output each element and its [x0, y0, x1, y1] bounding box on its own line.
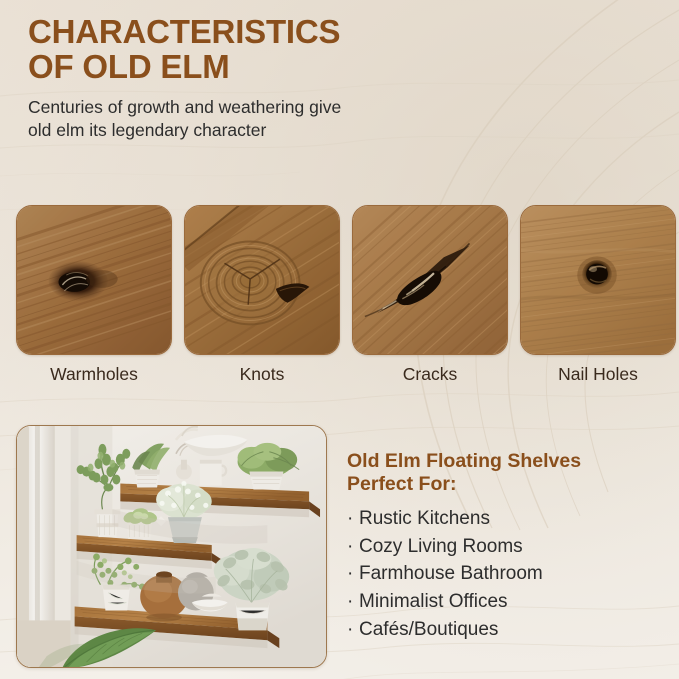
bullet-icon: · — [347, 505, 359, 533]
floating-shelves-photo — [16, 425, 327, 668]
swatch-label-warmholes: Warmholes — [50, 364, 138, 385]
uses-list-item-label: Cozy Living Rooms — [359, 536, 523, 557]
uses-block: Old Elm Floating Shelves Perfect For: ·R… — [347, 450, 667, 644]
uses-list-item: ·Farmhouse Bathroom — [347, 560, 667, 588]
uses-list-item: ·Cafés/Boutiques — [347, 616, 667, 644]
header-block: CHARACTERISTICS OF OLD ELM Centuries of … — [28, 14, 448, 142]
page-title-line-2: OF OLD ELM — [28, 49, 448, 84]
uses-list: ·Rustic Kitchens ·Cozy Living Rooms ·Far… — [347, 505, 667, 644]
uses-heading-line-2: Perfect For: — [347, 473, 667, 496]
swatch-item-knots: Knots — [184, 205, 340, 390]
swatch-item-nail-holes: Nail Holes — [520, 205, 676, 390]
uses-list-item-label: Cafés/Boutiques — [359, 619, 498, 640]
wood-swatch-crack-icon — [352, 205, 508, 355]
characteristics-swatch-row: Warmholes — [16, 205, 664, 390]
uses-list-item: ·Cozy Living Rooms — [347, 533, 667, 561]
uses-list-item-label: Farmhouse Bathroom — [359, 563, 543, 584]
uses-list-item-label: Minimalist Offices — [359, 591, 508, 612]
uses-list-item: ·Rustic Kitchens — [347, 505, 667, 533]
wood-swatch-wormhole-icon — [16, 205, 172, 355]
bullet-icon: · — [347, 560, 359, 588]
page-subtitle-line-1: Centuries of growth and weathering give — [28, 97, 341, 117]
swatch-label-nail-holes: Nail Holes — [558, 364, 638, 385]
uses-list-item-label: Rustic Kitchens — [359, 508, 490, 529]
bullet-icon: · — [347, 533, 359, 561]
swatch-label-cracks: Cracks — [403, 364, 457, 385]
page-subtitle-line-2: old elm its legendary character — [28, 119, 448, 142]
page-subtitle: Centuries of growth and weathering give … — [28, 96, 448, 143]
bullet-icon: · — [347, 616, 359, 644]
swatch-item-cracks: Cracks — [352, 205, 508, 390]
uses-list-item: ·Minimalist Offices — [347, 588, 667, 616]
page-title: CHARACTERISTICS OF OLD ELM — [28, 14, 448, 85]
page-title-line-1: CHARACTERISTICS — [28, 13, 340, 50]
bullet-icon: · — [347, 588, 359, 616]
uses-heading-line-1: Old Elm Floating Shelves — [347, 450, 581, 472]
swatch-item-warmholes: Warmholes — [16, 205, 172, 390]
wood-swatch-nailhole-icon — [520, 205, 676, 355]
wood-swatch-knot-icon — [184, 205, 340, 355]
swatch-label-knots: Knots — [240, 364, 285, 385]
uses-heading: Old Elm Floating Shelves Perfect For: — [347, 450, 667, 496]
